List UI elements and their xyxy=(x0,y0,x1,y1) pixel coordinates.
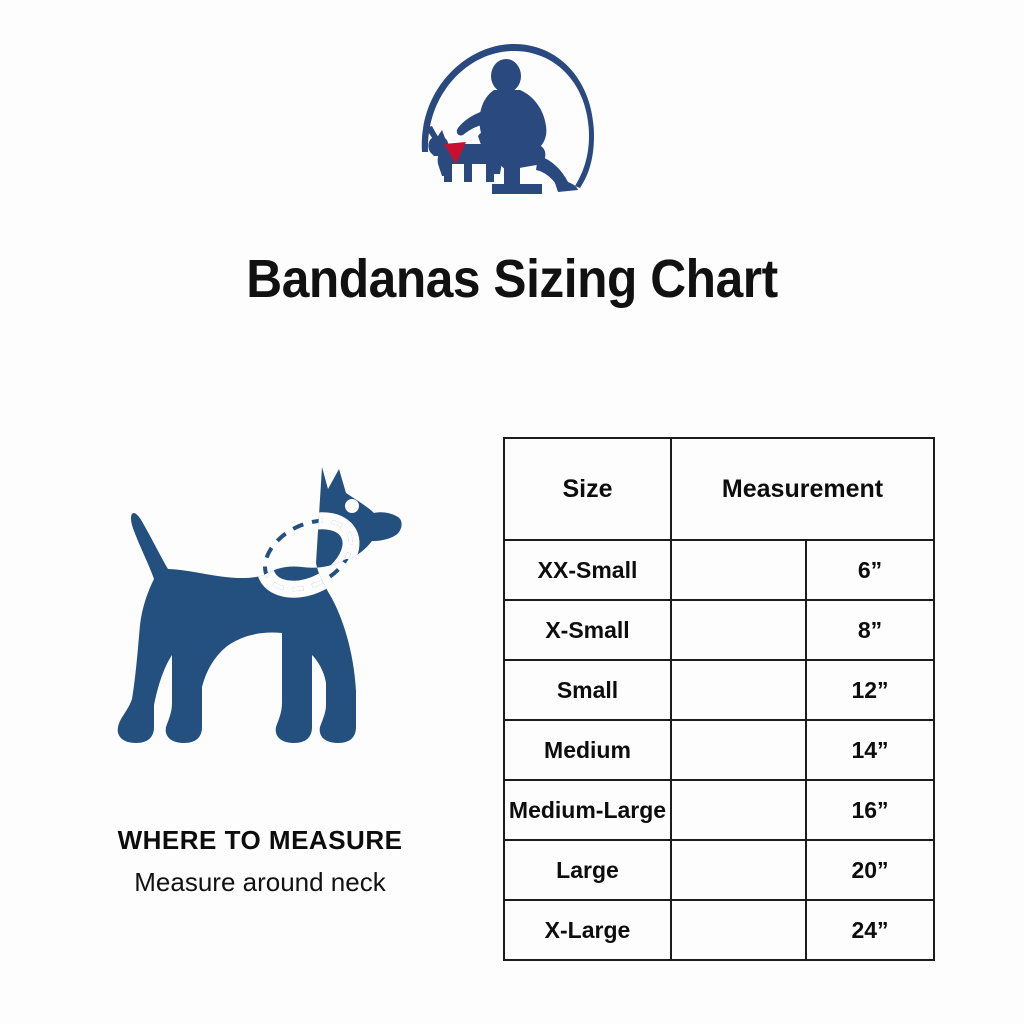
column-header-size: Size xyxy=(504,438,671,540)
cell-blank xyxy=(671,840,806,900)
cell-measurement: 8” xyxy=(806,600,934,660)
cell-size: Medium-Large xyxy=(504,780,671,840)
page-title: Bandanas Sizing Chart xyxy=(41,248,983,310)
cell-blank xyxy=(671,540,806,600)
size-label: Small xyxy=(557,677,618,704)
column-header-measurement: Measurement xyxy=(671,438,934,540)
size-label: Medium-Large xyxy=(509,797,666,824)
cell-blank xyxy=(671,720,806,780)
logo-artwork xyxy=(408,32,608,212)
cell-measurement: 12” xyxy=(806,660,934,720)
measure-caption-block: WHERE TO MEASURE Measure around neck xyxy=(60,826,460,898)
table-row: Small 12” xyxy=(504,660,934,720)
cell-measurement: 20” xyxy=(806,840,934,900)
cell-size: Large xyxy=(504,840,671,900)
sizing-table: Size Measurement XX-Small 6” X-Small 8” … xyxy=(503,437,935,961)
cell-size: Medium xyxy=(504,720,671,780)
table-row: Medium-Large 16” xyxy=(504,780,934,840)
table-row: X-Large 24” xyxy=(504,900,934,960)
dog-measure-illustration xyxy=(96,455,426,765)
cell-blank xyxy=(671,660,806,720)
size-label: X-Small xyxy=(545,617,629,644)
size-label: Large xyxy=(556,857,619,884)
table-row: Large 20” xyxy=(504,840,934,900)
table-row: X-Small 8” xyxy=(504,600,934,660)
cell-measurement: 6” xyxy=(806,540,934,600)
cell-size: XX-Small xyxy=(504,540,671,600)
sizing-table-body: Size Measurement XX-Small 6” X-Small 8” … xyxy=(504,438,934,960)
table-row: Medium 14” xyxy=(504,720,934,780)
size-label: Medium xyxy=(544,737,631,764)
size-label: X-Large xyxy=(545,917,631,944)
dog-body-shape xyxy=(118,467,402,743)
table-row: XX-Small 6” xyxy=(504,540,934,600)
table-header-row: Size Measurement xyxy=(504,438,934,540)
cell-measurement: 16” xyxy=(806,780,934,840)
where-to-measure-heading: WHERE TO MEASURE xyxy=(60,826,460,856)
cell-blank xyxy=(671,900,806,960)
cell-size: Small xyxy=(504,660,671,720)
cell-size: X-Small xyxy=(504,600,671,660)
measure-around-neck-text: Measure around neck xyxy=(60,868,460,898)
size-label: XX-Small xyxy=(538,557,638,584)
cell-blank xyxy=(671,600,806,660)
cell-blank xyxy=(671,780,806,840)
dog-illustration-artwork xyxy=(96,455,426,765)
cell-measurement: 24” xyxy=(806,900,934,960)
cell-measurement: 14” xyxy=(806,720,934,780)
dog-eye-icon xyxy=(345,499,359,513)
cell-size: X-Large xyxy=(504,900,671,960)
sizing-chart-page: Bandanas Sizing Chart xyxy=(0,0,1024,1024)
logo-person-silhouette xyxy=(457,59,578,194)
brand-logo xyxy=(408,32,608,212)
